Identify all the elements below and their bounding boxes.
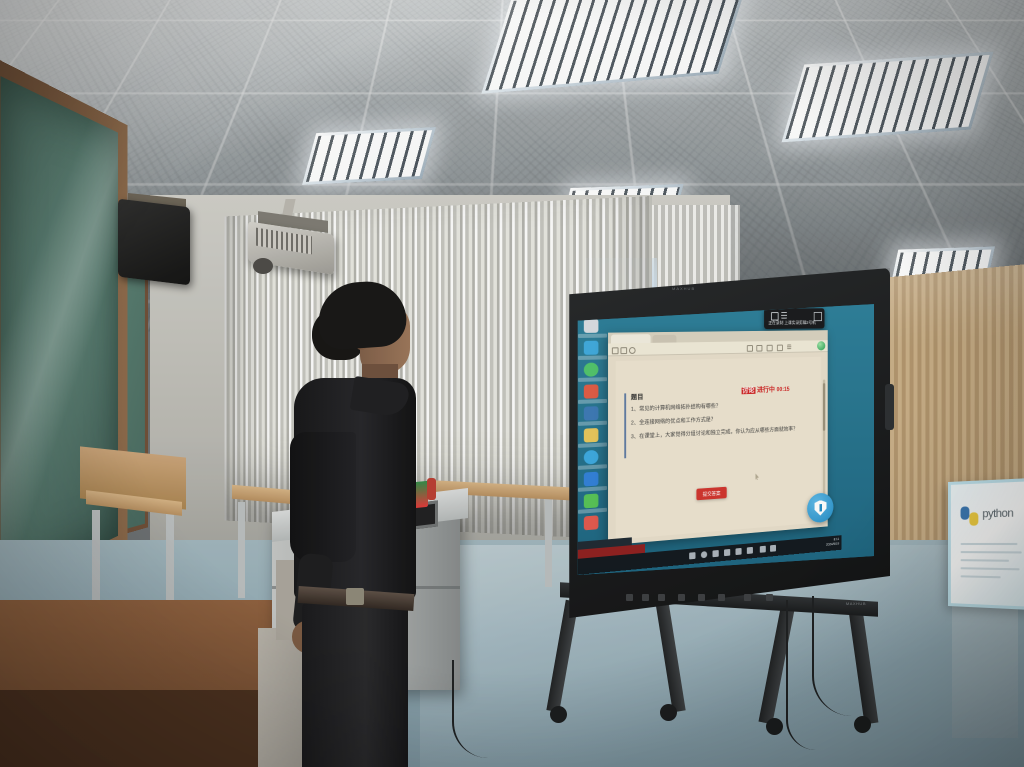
ceiling-light-2 <box>781 52 993 143</box>
recording-status: 正在录制 上课实录剪辑2号机 <box>768 320 815 326</box>
classroom-photo: MAXHUB <box>0 0 1024 767</box>
python-poster: python <box>948 478 1024 610</box>
desktop-icon-qq[interactable] <box>584 515 599 530</box>
display-screen[interactable]: 正在录制 上课实录剪辑2号机 <box>576 303 874 575</box>
recording-toolbar[interactable]: 正在录制 上课实录剪辑2号机 <box>764 308 824 329</box>
desktop-icon-folder[interactable] <box>584 428 599 443</box>
bezel-back-button[interactable] <box>658 594 665 601</box>
quiz-timer: 00:15 <box>777 387 790 393</box>
taskbar-app-icon[interactable] <box>747 547 753 554</box>
page-content: 题目 讨论 进行中 00:15 1、常见的计算机网络拓扑结构有哪些？ 2、全连接… <box>608 352 828 545</box>
taskbar-tray-network-icon[interactable] <box>760 546 766 553</box>
desktop-icon-label <box>578 377 607 382</box>
taskbar-tray-volume-icon[interactable] <box>770 545 776 552</box>
bookmark-icon[interactable] <box>747 345 753 352</box>
desktop-icon-python[interactable] <box>584 406 599 421</box>
projector-lens <box>253 258 273 274</box>
desktop-icon-label <box>578 486 607 492</box>
display-side-handle[interactable] <box>885 384 894 430</box>
browser-window[interactable]: 题目 讨论 进行中 00:15 1、常见的计算机网络拓扑结构有哪些？ 2、全连接… <box>608 330 828 545</box>
stage-front <box>0 690 290 767</box>
desk-leg <box>92 510 100 606</box>
back-icon[interactable] <box>612 347 619 354</box>
submit-answer-button[interactable]: 提交答案 <box>696 487 726 501</box>
quiz-status: 讨论 进行中 00:15 <box>741 384 789 395</box>
scrollbar-thumb[interactable] <box>823 383 825 431</box>
desk-leg <box>238 502 245 598</box>
taskbar-wps-icon[interactable] <box>735 548 741 555</box>
bezel-usb-port[interactable] <box>766 594 773 601</box>
desktop-icon-chrome[interactable] <box>584 363 599 377</box>
desktop-icon-label <box>578 334 607 338</box>
taskbar-search-icon[interactable] <box>701 551 707 558</box>
browser-tab-active[interactable] <box>611 334 651 343</box>
status-badge: 讨论 <box>741 387 755 394</box>
display-brand-top: MAXHUB <box>672 286 695 291</box>
desk-item-bottle <box>427 478 436 500</box>
bezel-menu-button[interactable] <box>744 594 751 601</box>
taskbar-browser-icon[interactable] <box>724 549 730 556</box>
bezel-source-button[interactable] <box>678 594 685 601</box>
desktop-icon-recycle-bin[interactable] <box>584 341 599 355</box>
bezel-volume-up-button[interactable] <box>718 594 725 601</box>
question-accent-bar <box>624 393 626 458</box>
desktop-icon-this-pc[interactable] <box>584 319 599 333</box>
taskbar-clock[interactable]: 8:11 2024/5/19 <box>826 537 839 547</box>
stand-caster <box>766 718 783 735</box>
taskbar-explorer-icon[interactable] <box>713 550 719 557</box>
browser-tab-secondary[interactable] <box>652 334 676 342</box>
desk-leg <box>166 514 174 604</box>
screenshot-icon[interactable] <box>771 312 779 320</box>
desktop-icon-label <box>578 508 607 514</box>
desktop-icon-tencent-meeting[interactable] <box>584 472 599 487</box>
download-icon[interactable] <box>767 344 773 351</box>
desktop-icon-label <box>578 399 607 404</box>
shield-icon[interactable] <box>807 492 833 523</box>
poster-title: python <box>982 507 1013 520</box>
belt-buckle <box>346 588 364 605</box>
browser-menu-icon[interactable] <box>787 344 791 349</box>
shield-glyph <box>814 500 826 517</box>
stand-caster <box>550 706 567 723</box>
status-running-label: 进行中 <box>757 387 775 394</box>
quiz-heading: 题目 <box>631 391 644 401</box>
document-surface <box>616 357 821 540</box>
bezel-home-button[interactable] <box>642 594 649 601</box>
desktop-icon-wps[interactable] <box>584 384 599 398</box>
desktop-icon-360-security[interactable] <box>584 450 599 465</box>
signal-cable <box>786 600 816 750</box>
menu-icon[interactable] <box>781 312 787 319</box>
shirt-sleeve <box>290 432 356 562</box>
interactive-display[interactable]: MAXHUB <box>560 268 890 618</box>
taskbar-start-icon[interactable] <box>689 552 695 559</box>
poster-stand <box>952 598 1018 738</box>
chalkboard <box>0 55 128 615</box>
extension-icon[interactable] <box>756 344 762 351</box>
student-person <box>288 282 428 767</box>
desktop-icon-label <box>578 355 607 360</box>
stand-caster <box>854 716 871 733</box>
desktop-icon-label <box>578 421 607 426</box>
display-brand-label: MAXHUB <box>846 601 866 606</box>
bezel-volume-down-button[interactable] <box>698 594 705 601</box>
desk-leg <box>545 497 552 587</box>
desktop-icon-label <box>578 442 607 447</box>
hair <box>316 279 408 351</box>
wall-speaker <box>118 199 190 286</box>
bezel-power-button[interactable] <box>626 594 633 601</box>
desktop-icon-wechat[interactable] <box>584 493 599 508</box>
forward-icon[interactable] <box>620 347 627 354</box>
python-logo <box>961 506 980 526</box>
profile-icon[interactable] <box>777 344 783 351</box>
desktop-icon-label <box>578 464 607 470</box>
bezel-button-row[interactable] <box>626 594 802 604</box>
stand-caster <box>660 704 677 721</box>
trousers <box>302 602 408 767</box>
clock-date: 2024/5/19 <box>826 542 839 548</box>
reload-icon[interactable] <box>629 347 636 354</box>
